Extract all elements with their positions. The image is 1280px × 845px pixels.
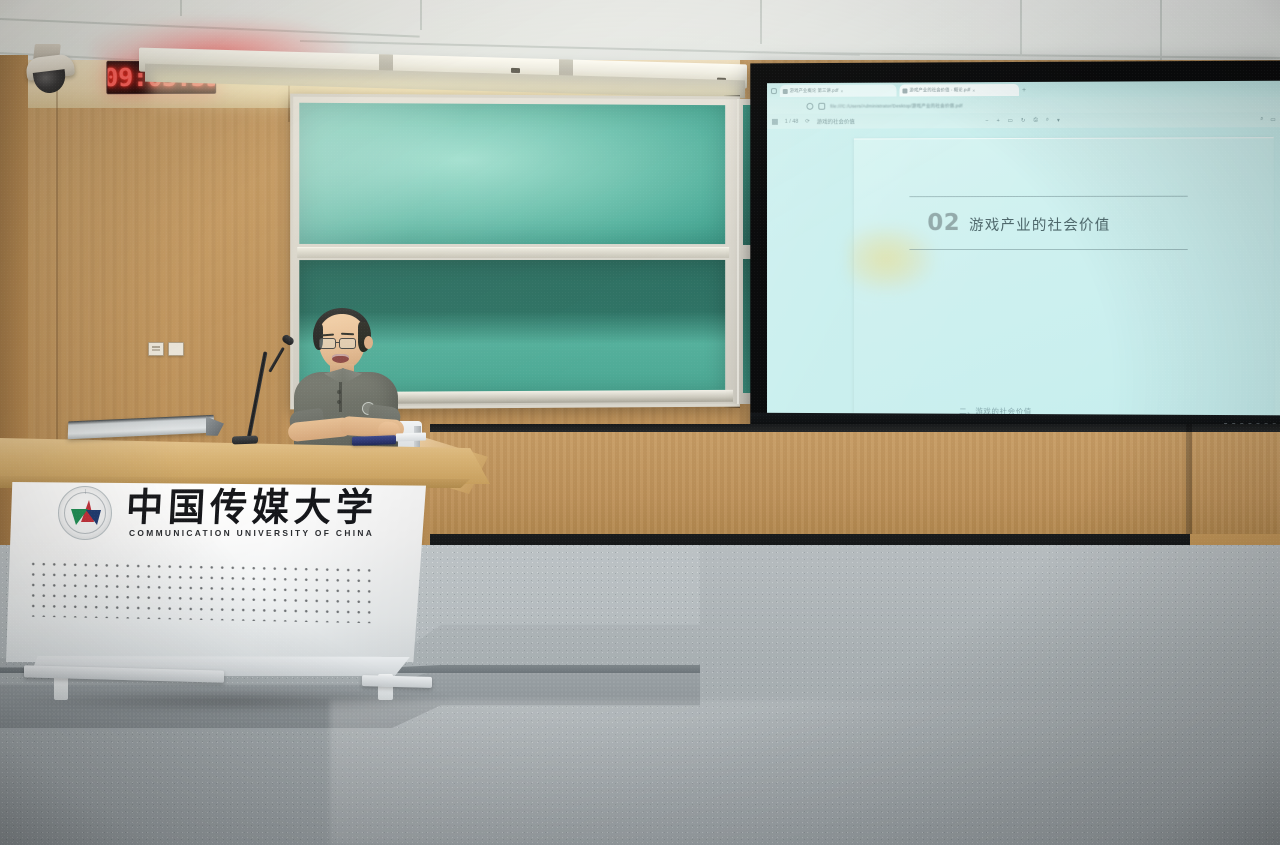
shirt-button bbox=[337, 390, 341, 394]
more-icon[interactable]: ▾ bbox=[1057, 117, 1060, 123]
slide-section-number: 02 bbox=[927, 210, 960, 236]
search-icon[interactable]: ⌕ bbox=[1260, 116, 1263, 123]
download-icon[interactable]: ▭ bbox=[1270, 117, 1275, 123]
slide-rule-bottom bbox=[909, 249, 1187, 250]
switch-slot bbox=[152, 349, 160, 351]
wall-switch-plate-right[interactable] bbox=[168, 342, 184, 356]
zoom-out-icon[interactable]: − bbox=[985, 118, 988, 124]
url-text[interactable]: file:///C:/Users/Administrator/Desktop/游… bbox=[830, 103, 962, 110]
switch-slot bbox=[152, 346, 160, 348]
site-info-icon[interactable] bbox=[818, 103, 825, 110]
lecture-podium: 中国传媒大学 COMMUNICATION UNIVERSITY OF CHINA bbox=[0, 424, 500, 714]
slide-title-block: 02 游戏产业的社会价值 bbox=[909, 196, 1210, 250]
print-icon[interactable]: ⎙ bbox=[1033, 117, 1037, 124]
ear bbox=[364, 336, 373, 349]
pdf-viewport[interactable]: 02 游戏产业的社会价值 二、游戏的社会价值 bbox=[767, 127, 1280, 415]
light-sensor bbox=[511, 68, 520, 73]
tab-favicon bbox=[783, 89, 788, 94]
projected-desktop: 游戏产业概论 第三讲.pdf × 游戏产业的社会价值 - 概论.pdf × + … bbox=[767, 81, 1280, 416]
sidebar-toggle-icon[interactable]: sidebar-toggle-icon bbox=[772, 118, 778, 124]
new-tab-button[interactable]: + bbox=[1022, 86, 1026, 93]
close-icon[interactable]: × bbox=[972, 88, 975, 93]
microphone-base bbox=[232, 436, 258, 445]
white-object-on-podium[interactable] bbox=[396, 432, 426, 441]
browser-tab-1[interactable]: 游戏产业概论 第三讲.pdf × bbox=[780, 85, 897, 97]
blue-object-on-podium[interactable] bbox=[352, 435, 396, 446]
university-emblem bbox=[58, 486, 112, 540]
browser-menu-icon[interactable] bbox=[771, 88, 777, 94]
podium-name-block: 中国传媒大学 COMMUNICATION UNIVERSITY OF CHINA bbox=[126, 488, 378, 539]
reload-icon[interactable] bbox=[806, 103, 813, 110]
blackboard-upper-panel bbox=[299, 103, 725, 244]
university-name-chinese: 中国传媒大学 bbox=[125, 487, 379, 527]
lecture-hall-photo: 09:03:39 游戏产业概论 第三讲.pdf × bbox=[0, 0, 1280, 845]
tab-title: 游戏产业概论 第三讲.pdf bbox=[790, 88, 839, 94]
tab-title: 游戏产业的社会价值 - 概论.pdf bbox=[909, 87, 970, 93]
podium-foot-rail bbox=[362, 675, 432, 688]
rotate-icon[interactable]: ↻ bbox=[1021, 117, 1026, 123]
eyeglasses-lens-left bbox=[319, 338, 336, 349]
pdf-viewer-toolbar: sidebar-toggle-icon 1 / 48 ⟳ 游戏的社会价值 − +… bbox=[767, 112, 1280, 129]
shirt-button bbox=[337, 400, 341, 404]
slide-title-row: 02 游戏产业的社会价值 bbox=[909, 197, 1210, 249]
wall-switch-plate-left[interactable] bbox=[148, 342, 164, 356]
search-icon[interactable]: ⌕ bbox=[1046, 117, 1049, 124]
browser-tab-2[interactable]: 游戏产业的社会价值 - 概论.pdf × bbox=[899, 84, 1019, 97]
slide-section-title: 游戏产业的社会价值 bbox=[969, 214, 1110, 235]
projection-screen: 游戏产业概论 第三讲.pdf × 游戏产业的社会价值 - 概论.pdf × + … bbox=[750, 61, 1280, 432]
page-indicator[interactable]: 1 / 48 bbox=[785, 118, 799, 124]
close-icon[interactable]: × bbox=[841, 88, 844, 93]
tab-favicon bbox=[902, 88, 907, 93]
fit-page-icon[interactable]: ▭ bbox=[1008, 118, 1013, 124]
reload-icon[interactable]: ⟳ bbox=[805, 118, 810, 124]
floor-reflection bbox=[330, 700, 1280, 845]
blackboard-divider-rail bbox=[297, 247, 729, 258]
emblem-triangle-blue bbox=[86, 510, 101, 525]
pdf-center-tools: − + ▭ ↻ ⎙ ⌕ ▾ bbox=[985, 117, 1059, 124]
university-name-english: COMMUNICATION UNIVERSITY OF CHINA bbox=[126, 528, 378, 538]
pdf-filename: 游戏的社会价值 bbox=[817, 117, 855, 125]
shirt-placket bbox=[339, 382, 342, 412]
zoom-in-icon[interactable]: + bbox=[996, 118, 999, 124]
podium-speaker-grille bbox=[28, 559, 378, 624]
mouth bbox=[332, 354, 349, 363]
eyeglasses-bridge bbox=[336, 342, 340, 343]
eyeglasses-lens-right bbox=[339, 338, 356, 349]
pdf-page: 02 游戏产业的社会价值 二、游戏的社会价值 bbox=[854, 137, 1274, 415]
podium-branding: 中国传媒大学 COMMUNICATION UNIVERSITY OF CHINA bbox=[58, 486, 378, 540]
pdf-right-tools: ⌕ ▭ bbox=[1260, 116, 1276, 123]
